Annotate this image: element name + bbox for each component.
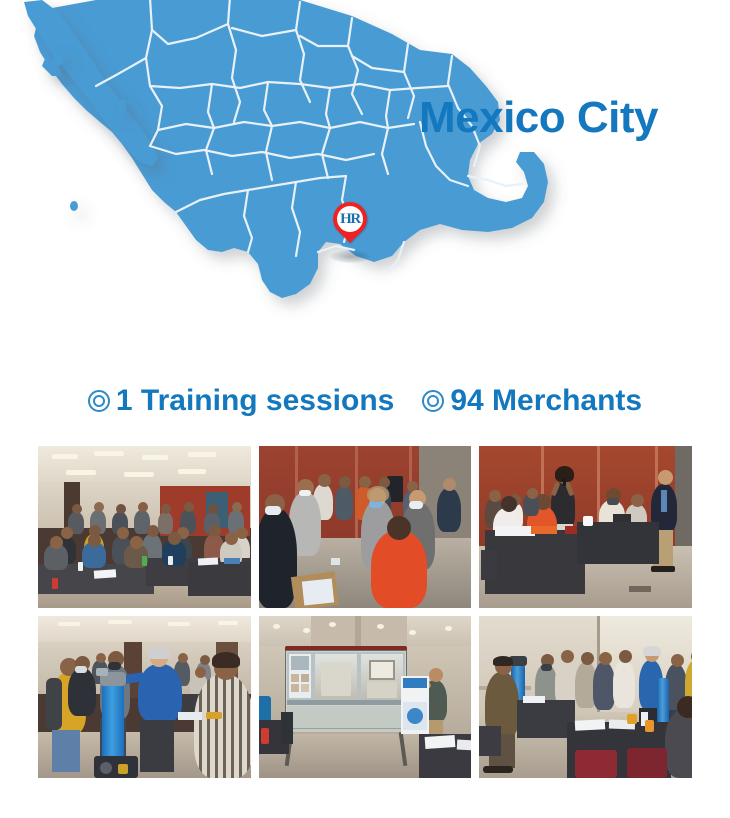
- stat-training-sessions: 1 Training sessions: [88, 386, 394, 416]
- stat-merchants: 94 Merchants: [422, 386, 642, 416]
- stats-row: 1 Training sessions 94 Merchants: [0, 378, 730, 424]
- double-circle-icon: [422, 390, 444, 412]
- gallery-photo-3[interactable]: Female presenter speaking into a microph…: [479, 446, 692, 608]
- gallery-photo-6[interactable]: Group of attendees gathered around demon…: [479, 616, 692, 778]
- double-circle-icon: [88, 390, 110, 412]
- map-pin-icon[interactable]: HR: [328, 202, 372, 264]
- mexico-map-graphic: [0, 0, 560, 364]
- gallery-photo-5[interactable]: Presenter gesturing toward a large proje…: [259, 616, 472, 778]
- photo-gallery: Classroom of seated attendees facing the…: [38, 446, 692, 778]
- pin-shadow: [330, 250, 370, 263]
- gallery-photo-2[interactable]: Attendees wearing face masks mingling an…: [259, 446, 472, 608]
- page-title: Mexico City: [419, 96, 658, 140]
- pin-logo-disc: HR: [337, 206, 363, 232]
- gallery-photo-4[interactable]: Instructor in a blue shirt demonstrating…: [38, 616, 251, 778]
- pin-logo-text: HR: [340, 212, 360, 227]
- mexico-landmass: [34, 0, 548, 298]
- stat-merchants-text: 94 Merchants: [450, 386, 642, 416]
- map-section: Mexico City HR: [0, 0, 730, 370]
- gallery-photo-1[interactable]: Classroom of seated attendees facing the…: [38, 446, 251, 608]
- stat-training-sessions-text: 1 Training sessions: [116, 386, 394, 416]
